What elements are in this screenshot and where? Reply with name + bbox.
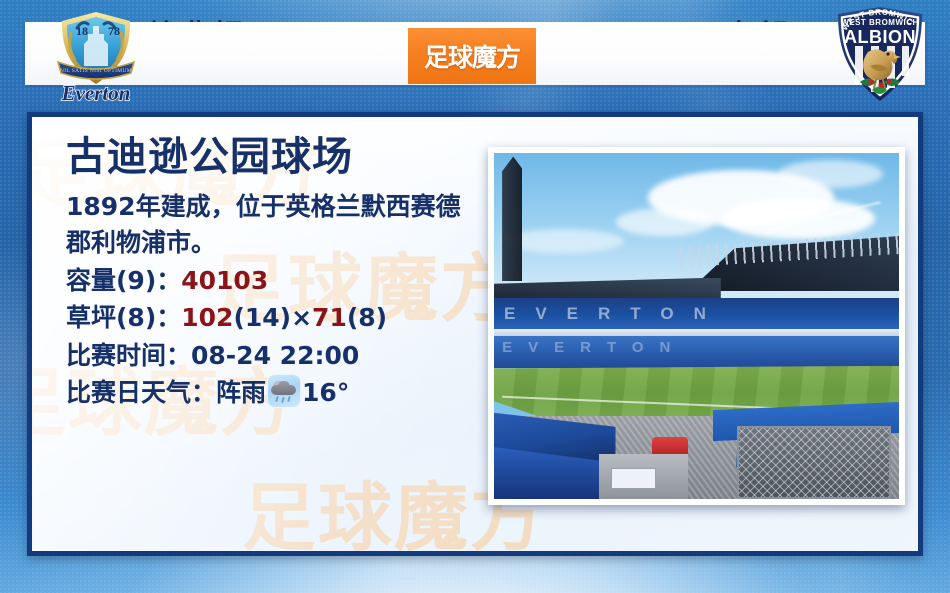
photo-stand-lettering-upper: EVERTON [494, 298, 899, 329]
crest-club-name: Everton [61, 81, 131, 105]
crest-year-left: 18 [76, 24, 88, 38]
photo-upper-stand: EVERTON [494, 298, 899, 329]
pitch-length-suffix: (14) [233, 303, 291, 332]
pitch-label: 草坪(8)： [66, 303, 181, 332]
stadium-photo-frame[interactable]: EVERTON EVERTON [488, 147, 905, 505]
pitch-separator: × [291, 303, 312, 332]
photo-notice-plate [611, 468, 656, 489]
goodison-park-photo: EVERTON EVERTON [494, 153, 899, 499]
match-time-row: 比赛时间：08-24 22:00 [66, 337, 486, 375]
weather-temperature: 16° [302, 378, 349, 407]
stadium-info-panel: 足球魔方 足球魔方 足球魔方 足球魔方 古迪逊公园球场 1892年建成，位于英格… [27, 112, 923, 556]
photo-stand-lettering-lower: EVERTON [502, 339, 745, 358]
match-time-value: 08-24 22:00 [191, 341, 359, 370]
pitch-row: 草坪(8)：102(14)×71(8) [66, 299, 486, 337]
crest-main-text: ALBION [844, 27, 916, 47]
photo-mesh-fence [737, 426, 891, 499]
photo-cloud [616, 208, 713, 236]
svg-text:WEST BROMWICH: WEST BROMWICH [841, 18, 919, 27]
capacity-row: 容量(9)：40103 [66, 262, 486, 300]
photo-lower-stand: EVERTON [494, 336, 899, 367]
photo-floodlight-mast [502, 156, 522, 281]
capacity-label: 容量(9)： [66, 266, 181, 295]
pitch-length-value: 102 [181, 303, 233, 332]
match-time-label: 比赛时间： [66, 341, 191, 370]
capacity-value: 40103 [181, 266, 268, 295]
brand-logo[interactable]: 足球魔方 [408, 28, 536, 84]
everton-crest[interactable]: 18 78 NIL SATIS NISI OPTIMUM Everton [44, 4, 148, 108]
stadium-description: 1892年建成，位于英格兰默西赛德郡利物浦市。 [66, 189, 471, 262]
brand-logo-text: 足球魔方 [408, 28, 536, 84]
pitch-width-suffix: (8) [347, 303, 387, 332]
weather-row: 比赛日天气：阵雨 16° [66, 374, 486, 412]
photo-cloud [778, 160, 883, 188]
weather-label: 比赛日天气： [66, 378, 216, 407]
weather-condition: 阵雨 [216, 378, 266, 407]
pitch-width-value: 71 [312, 303, 347, 332]
crest-motto: NIL SATIS NISI OPTIMUM [60, 68, 132, 74]
west-bromwich-albion-crest[interactable]: WEST BROMWICH WEST BROMWICH ALBION [826, 2, 934, 108]
stadium-title: 古迪逊公园球场 [66, 135, 486, 179]
rain-shower-icon [267, 374, 301, 408]
photo-cloud [721, 198, 875, 240]
stadium-text-block: 古迪逊公园球场 1892年建成，位于英格兰默西赛德郡利物浦市。 容量(9)：40… [66, 135, 486, 412]
crest-year-right: 78 [108, 24, 120, 38]
